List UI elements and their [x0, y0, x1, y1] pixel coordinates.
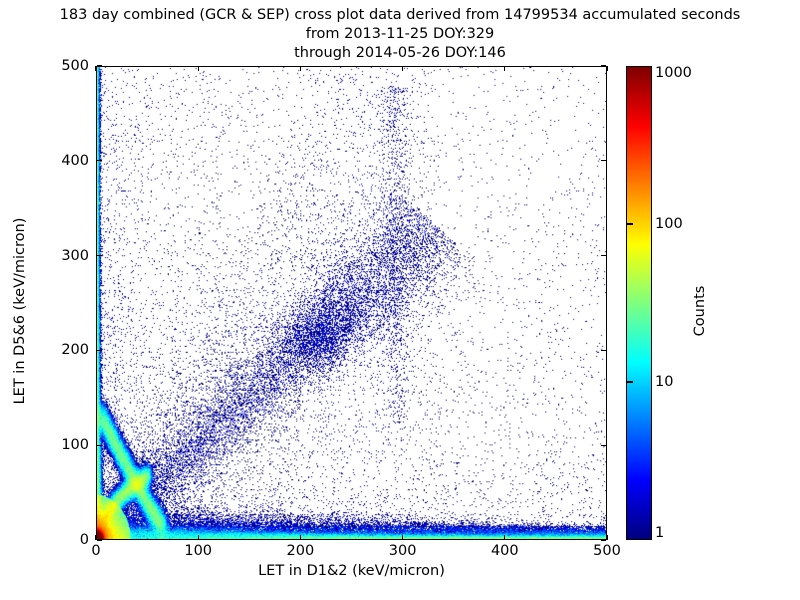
y-axis-label: LET in D5&6 (keV/micron) [12, 161, 28, 461]
plot-area[interactable] [96, 66, 607, 540]
y-tick-right-200 [601, 350, 606, 351]
y-ticklabel-100: 100 [61, 437, 89, 453]
plot-title: 183 day combined (GCR & SEP) cross plot … [0, 6, 800, 63]
colorbar-tick-10 [626, 381, 633, 382]
x-tick-top-500 [606, 66, 607, 71]
heatmap-scatter-canvas [97, 67, 606, 539]
y-tick-500 [97, 65, 102, 66]
plot-title-line-2: from 2013-11-25 DOY:329 [0, 25, 800, 44]
x-ticklabel-300: 300 [389, 543, 417, 559]
y-ticklabel-500: 500 [61, 58, 89, 74]
x-ticklabel-0: 0 [91, 543, 100, 559]
colorbar-gradient [627, 67, 651, 539]
y-tick-right-400 [601, 160, 606, 161]
x-tick-400 [504, 535, 505, 540]
x-axis-label: LET in D1&2 (keV/micron) [96, 563, 607, 579]
x-tick-top-400 [504, 66, 505, 71]
colorbar-label: Counts [692, 211, 708, 411]
y-tick-100 [97, 445, 102, 446]
x-ticklabel-200: 200 [287, 543, 315, 559]
colorbar-ticklabel-1: 1 [655, 525, 664, 541]
x-tick-top-300 [402, 66, 403, 71]
y-tick-200 [97, 350, 102, 351]
y-tick-400 [97, 160, 102, 161]
x-ticklabel-400: 400 [491, 543, 519, 559]
y-tick-right-500 [601, 65, 606, 66]
figure-canvas: 183 day combined (GCR & SEP) cross plot … [0, 0, 800, 600]
y-ticklabel-0: 0 [80, 532, 89, 548]
x-tick-500 [606, 535, 607, 540]
x-tick-top-0 [95, 66, 96, 71]
x-ticklabel-500: 500 [593, 543, 621, 559]
x-tick-top-200 [300, 66, 301, 71]
x-tick-300 [402, 535, 403, 540]
y-ticklabel-400: 400 [61, 153, 89, 169]
colorbar-tick-100 [626, 223, 633, 224]
x-tick-top-100 [198, 66, 199, 71]
y-tick-right-300 [601, 255, 606, 256]
x-tick-100 [198, 535, 199, 540]
y-ticklabel-200: 200 [61, 342, 89, 358]
colorbar-ticklabel-10: 10 [655, 374, 673, 390]
y-tick-0 [97, 539, 102, 540]
colorbar-ticklabel-100: 100 [655, 216, 683, 232]
y-tick-right-100 [601, 445, 606, 446]
y-ticklabel-300: 300 [61, 248, 89, 264]
y-tick-right-0 [601, 539, 606, 540]
plot-title-line-3: through 2014-05-26 DOY:146 [0, 44, 800, 63]
x-ticklabel-100: 100 [184, 543, 212, 559]
x-tick-200 [300, 535, 301, 540]
plot-title-line-1: 183 day combined (GCR & SEP) cross plot … [0, 6, 800, 25]
colorbar[interactable] [626, 66, 652, 540]
colorbar-ticklabel-1000: 1000 [655, 65, 692, 81]
y-tick-300 [97, 255, 102, 256]
